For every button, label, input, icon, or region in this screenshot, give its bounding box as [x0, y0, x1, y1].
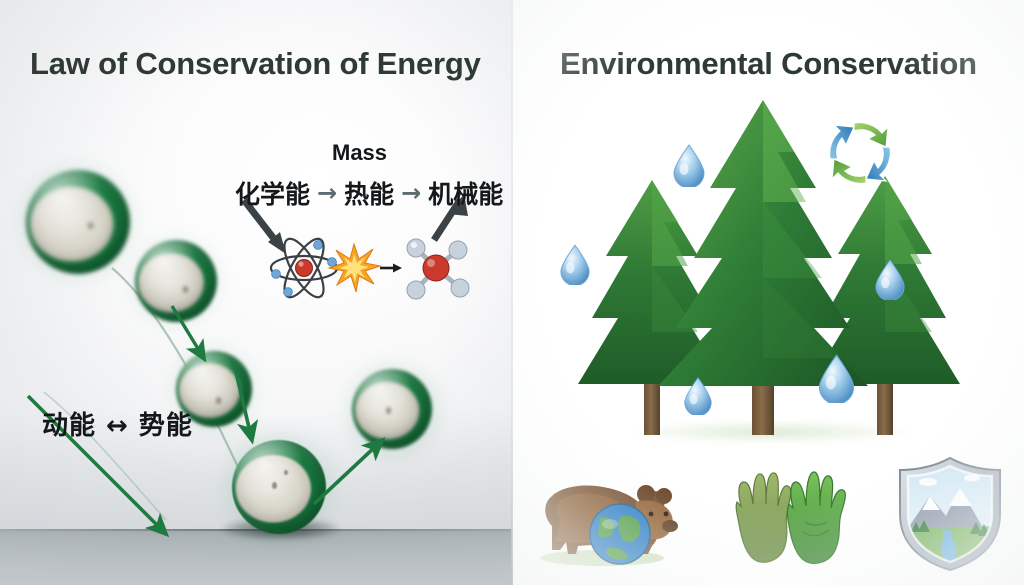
water-droplet-4 [683, 376, 713, 420]
ball-speck [284, 470, 288, 475]
water-droplet-1 [672, 143, 706, 192]
energy-ball-2 [135, 240, 217, 322]
water-droplet-2 [559, 243, 591, 290]
bear-with-globe-icon [530, 454, 690, 577]
kinetic-potential-label: 动能 ↔ 势能 [42, 405, 193, 442]
water-droplet-5 [817, 353, 856, 408]
molecule-icon [407, 239, 469, 299]
green-hands-icon [727, 460, 857, 577]
hand-right [787, 472, 845, 563]
energy-ball-4 [232, 440, 326, 534]
panel-energy-conservation: Law of Conservation of Energy Mass 化学能 →… [0, 0, 512, 585]
energy-burst-icon [329, 244, 380, 292]
energy-ball-1 [26, 170, 130, 274]
ball-speck [88, 222, 93, 229]
infographic-root: Law of Conservation of Energy Mass 化学能 →… [0, 0, 1024, 585]
chain-arrow-icon: → [317, 179, 337, 207]
mass-label: Mass [332, 140, 387, 166]
page-title-right: Environmental Conservation [560, 46, 977, 82]
recycle-icon [817, 110, 903, 196]
ball-speck [183, 286, 188, 293]
chain-arrow-icon: → [401, 179, 421, 207]
chain-step-mechanical: 机械能 [428, 175, 503, 211]
water-droplet-3 [874, 258, 906, 305]
reaction-arrow-icon [380, 264, 402, 273]
energy-transformation-illustration [262, 222, 472, 318]
chain-step-chemical: 化学能 [235, 175, 310, 211]
hand-left [736, 473, 791, 562]
panel-environmental-conservation: Environmental Conservation [512, 0, 1024, 585]
energy-chain-label: 化学能 → 热能 → 机械能 [235, 175, 503, 211]
panel-divider [511, 0, 513, 585]
page-title-left: Law of Conservation of Energy [30, 46, 481, 82]
ball-speck [386, 407, 391, 414]
shield-landscape-icon [894, 454, 1006, 577]
conservation-icon-row [512, 447, 1024, 577]
ball-speck [216, 397, 221, 404]
ball-speck [272, 482, 277, 489]
atom-icon [271, 233, 337, 302]
chain-step-thermal: 热能 [344, 175, 394, 211]
energy-ball-5 [352, 369, 432, 449]
